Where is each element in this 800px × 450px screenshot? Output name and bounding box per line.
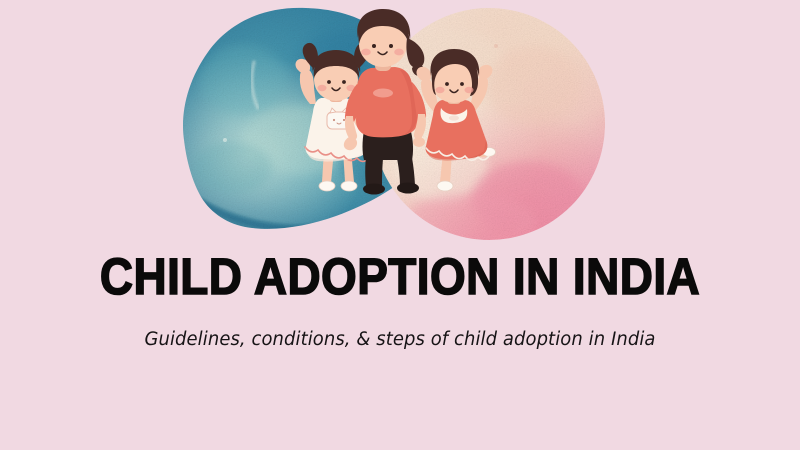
family-adoption-illustration [0, 0, 800, 250]
page-subtitle: Guidelines, conditions, & steps of child… [12, 328, 788, 352]
poster-canvas: CHILD ADOPTION IN INDIA Guidelines, cond… [0, 0, 800, 450]
page-title: CHILD ADOPTION IN INDIA [40, 248, 760, 306]
poster-text-block: CHILD ADOPTION IN INDIA Guidelines, cond… [0, 248, 800, 352]
